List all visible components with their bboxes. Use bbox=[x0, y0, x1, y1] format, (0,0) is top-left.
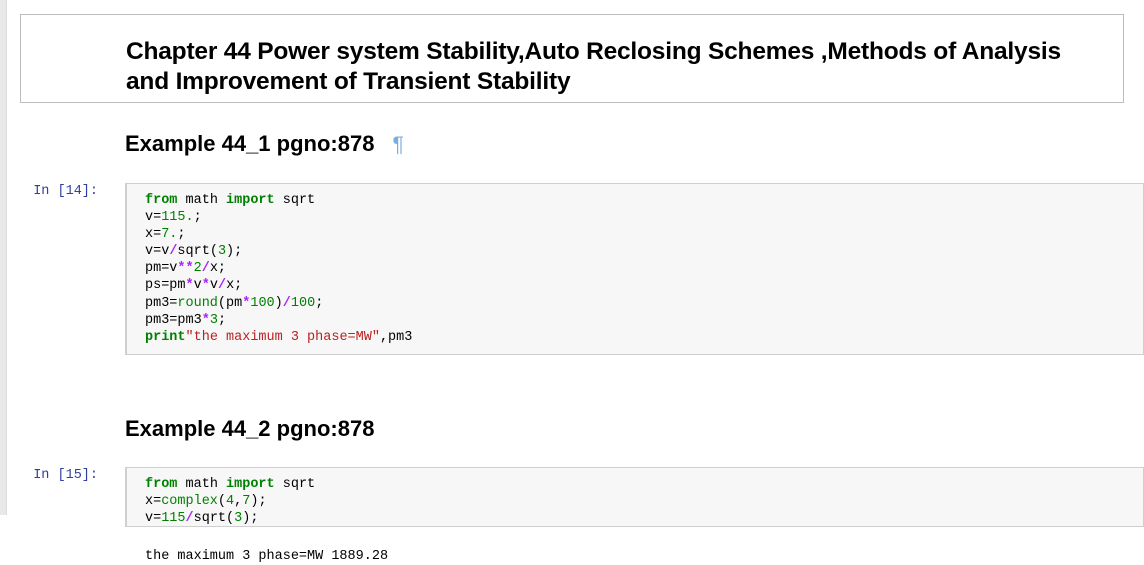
code-token: 3 bbox=[210, 313, 218, 328]
code-token: round bbox=[177, 296, 218, 311]
input-prompt-1: In [14]: bbox=[20, 183, 98, 200]
code-token: ); bbox=[250, 494, 266, 509]
code-input-area-1[interactable]: from math import sqrt v=115.; x=7.; v=v/… bbox=[125, 183, 1144, 355]
code-token: import bbox=[226, 193, 283, 208]
section-heading-1: Example 44_1 pgno:878¶ bbox=[125, 131, 404, 157]
code-token: ); bbox=[242, 511, 258, 526]
code-token: ; bbox=[315, 296, 323, 311]
code-token: import bbox=[226, 477, 283, 492]
code-token: (pm bbox=[218, 296, 242, 311]
code-token: x= bbox=[145, 494, 161, 509]
title-markdown-cell[interactable]: Chapter 44 Power system Stability,Auto R… bbox=[20, 14, 1124, 103]
code-token: 4 bbox=[226, 494, 234, 509]
code-token: ,pm3 bbox=[380, 330, 412, 345]
code-token: ; bbox=[177, 227, 185, 242]
code-source-2[interactable]: from math import sqrt x=complex(4,7); v=… bbox=[126, 468, 1143, 535]
code-token: / bbox=[283, 296, 291, 311]
code-token: 115 bbox=[161, 511, 185, 526]
code-token: x; bbox=[226, 278, 242, 293]
code-token: v bbox=[194, 278, 202, 293]
code-token: v= bbox=[145, 511, 161, 526]
code-token: / bbox=[218, 278, 226, 293]
code-token: x= bbox=[145, 227, 161, 242]
code-token: print bbox=[145, 330, 186, 345]
section-heading-2-label: Example 44_2 pgno:878 bbox=[125, 416, 374, 441]
code-token: 100 bbox=[291, 296, 315, 311]
code-token: math bbox=[186, 477, 227, 492]
notebook-container: Chapter 44 Power system Stability,Auto R… bbox=[0, 0, 1144, 515]
code-token: x; bbox=[210, 261, 226, 276]
code-token: 2 bbox=[194, 261, 202, 276]
code-input-area-2[interactable]: from math import sqrt x=complex(4,7); v=… bbox=[125, 467, 1144, 527]
code-token: v=v bbox=[145, 244, 169, 259]
section-heading-2: Example 44_2 pgno:878 bbox=[125, 416, 374, 442]
code-token: v bbox=[210, 278, 218, 293]
code-token: ) bbox=[275, 296, 283, 311]
code-token: 100 bbox=[250, 296, 274, 311]
code-token: ( bbox=[218, 494, 226, 509]
code-token: sqrt bbox=[283, 193, 315, 208]
code-token: ps=pm bbox=[145, 278, 186, 293]
code-token: 115. bbox=[161, 210, 193, 225]
code-token: math bbox=[186, 193, 227, 208]
pilcrow-anchor-icon[interactable]: ¶ bbox=[392, 133, 403, 156]
code-token: * bbox=[186, 278, 194, 293]
code-token: from bbox=[145, 193, 186, 208]
code-token: 3 bbox=[218, 244, 226, 259]
code-token: / bbox=[186, 511, 194, 526]
code-token: * bbox=[202, 313, 210, 328]
code-token: ); bbox=[226, 244, 242, 259]
code-token: ** bbox=[177, 261, 193, 276]
code-token: sqrt( bbox=[177, 244, 218, 259]
code-token: pm=v bbox=[145, 261, 177, 276]
code-token: pm3=pm3 bbox=[145, 313, 202, 328]
code-token: from bbox=[145, 477, 186, 492]
code-token: ; bbox=[194, 210, 202, 225]
section-heading-1-label: Example 44_1 pgno:878 bbox=[125, 131, 374, 156]
code-token: ; bbox=[218, 313, 226, 328]
code-token: sqrt( bbox=[194, 511, 235, 526]
code-token: * bbox=[202, 278, 210, 293]
input-prompt-2: In [15]: bbox=[20, 467, 98, 484]
code-token: "the maximum 3 phase=MW" bbox=[186, 330, 380, 345]
code-token: v= bbox=[145, 210, 161, 225]
code-token: 7. bbox=[161, 227, 177, 242]
code-output-1: the maximum 3 phase=MW 1889.28 bbox=[145, 548, 388, 565]
code-token: sqrt bbox=[283, 477, 315, 492]
code-token: / bbox=[202, 261, 210, 276]
code-token: pm3= bbox=[145, 296, 177, 311]
page-title: Chapter 44 Power system Stability,Auto R… bbox=[126, 37, 1076, 97]
code-token: complex bbox=[161, 494, 218, 509]
code-source-1[interactable]: from math import sqrt v=115.; x=7.; v=v/… bbox=[126, 184, 1143, 354]
